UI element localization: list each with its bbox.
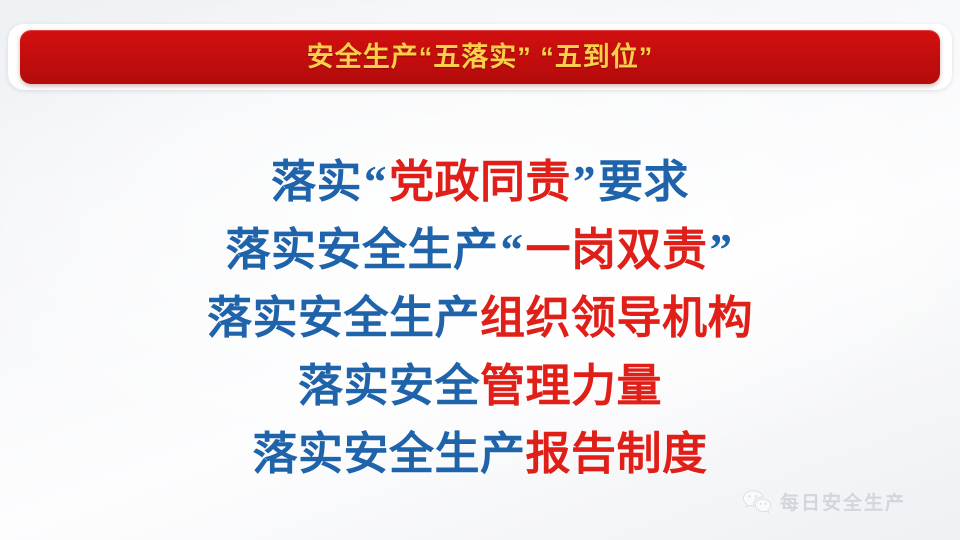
body-line-2: 落实安全生产“一岗双责”: [0, 216, 960, 284]
title-banner: 安全生产“五落实” “五到位”: [20, 30, 940, 84]
slide-canvas: 安全生产“五落实” “五到位” 落实“党政同责”要求 落实安全生产“一岗双责” …: [0, 0, 960, 540]
body-line-1: 落实“党政同责”要求: [0, 148, 960, 216]
line-2-open-quote: “: [499, 225, 526, 275]
line-1-close-quote: ”: [571, 157, 598, 207]
body-line-4: 落实安全管理力量: [0, 352, 960, 420]
banner-title-text: 安全生产“五落实” “五到位”: [307, 44, 654, 71]
line-5-seg-1: 落实安全生产: [252, 428, 525, 479]
line-3-seg-1: 落实安全生产: [207, 292, 480, 343]
body-line-3: 落实安全生产组织领导机构: [0, 284, 960, 352]
line-4-seg-1: 落实安全: [298, 360, 480, 411]
line-5-seg-highlight: 报告制度: [526, 428, 708, 479]
line-1-seg-highlight: 党政同责: [389, 156, 571, 207]
wechat-watermark: 每日安全生产: [742, 488, 906, 515]
line-1-open-quote: “: [362, 157, 389, 207]
line-4-seg-highlight: 管理力量: [480, 360, 662, 411]
title-banner-frame: 安全生产“五落实” “五到位”: [8, 24, 952, 90]
watermark-label: 每日安全生产: [780, 488, 906, 515]
body-text-block: 落实“党政同责”要求 落实安全生产“一岗双责” 落实安全生产组织领导机构 落实安…: [0, 148, 960, 488]
wechat-icon: [742, 489, 772, 515]
line-2-seg-highlight: 一岗双责: [526, 224, 708, 275]
line-2-close-quote: ”: [708, 225, 735, 275]
line-1-seg-1: 落实: [271, 156, 362, 207]
line-2-seg-1: 落实安全生产: [225, 224, 498, 275]
body-line-5: 落实安全生产报告制度: [0, 420, 960, 488]
line-3-seg-highlight: 组织领导机构: [480, 292, 753, 343]
line-1-seg-5: 要求: [598, 156, 689, 207]
